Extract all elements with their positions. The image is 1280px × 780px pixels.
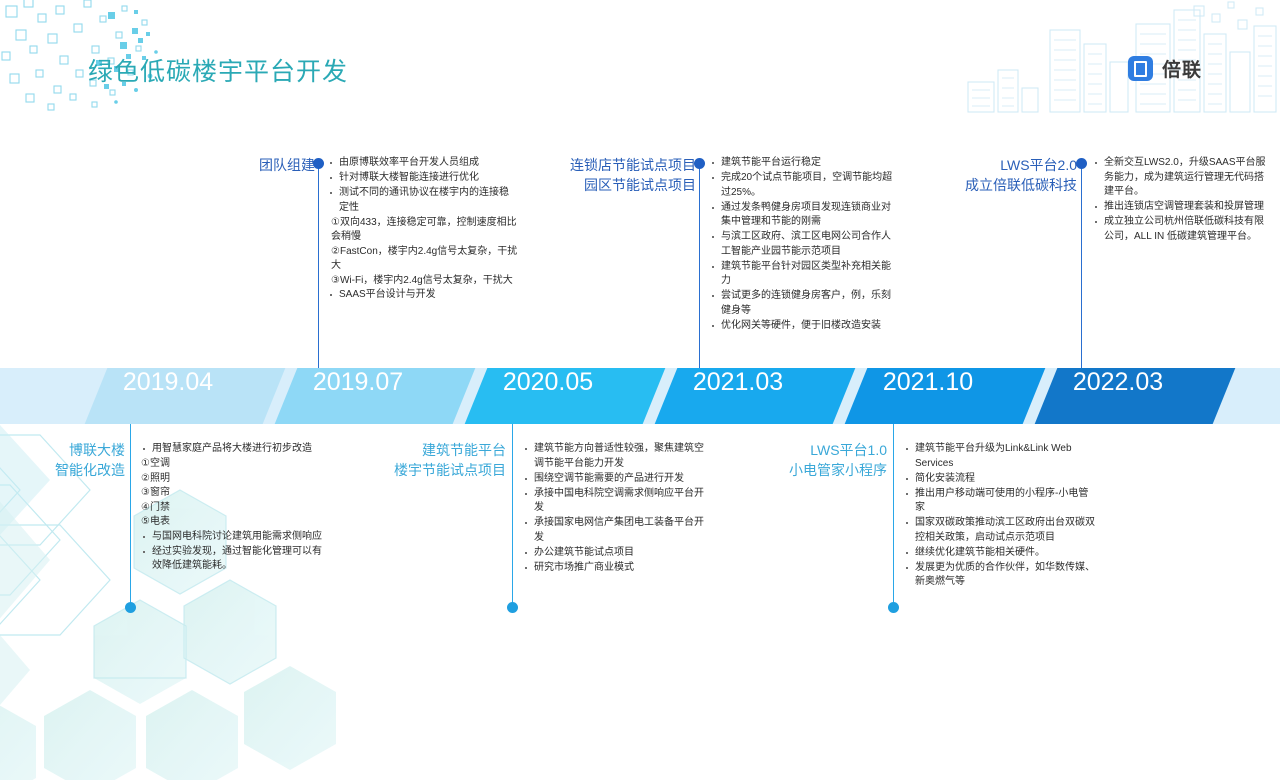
list-item: ①空调 (141, 457, 326, 472)
connector-dot-bottom-1 (507, 602, 518, 613)
entry-heading-line-1: LWS平台1.0 (752, 440, 887, 460)
timeline-entry-bottom-2: LWS平台1.0 小电管家小程序 (752, 440, 887, 480)
connector-dot-bottom-0 (125, 602, 136, 613)
slide-header: 绿色低碳楼宇平台开发 倍联 (0, 0, 1280, 130)
timeline-entry-top-0: 团队组建 (170, 155, 315, 175)
entry-heading-line-2: 小电管家小程序 (752, 460, 887, 480)
timeline-entry-top-2-body: 全新交互LWS2.0，升级SAAS平台服务能力，成为建筑运行管理无代码搭建平台。… (1093, 156, 1273, 245)
timeline-entry-bottom-0: 博联大楼 智能化改造 (0, 440, 125, 480)
list-item: 建筑节能平台针对园区类型补充相关能力 (710, 260, 900, 289)
list-item: 针对博联大楼智能连接进行优化 (328, 171, 518, 186)
sub-item: ①双向433，连接稳定可靠，控制速度相比会稍慢 (314, 216, 518, 245)
list-item: 推出连锁店空调管理套装和投屏管理 (1093, 200, 1273, 215)
list-item: 用智慧家庭产品将大楼进行初步改造 (141, 442, 326, 457)
list-item: 成立独立公司杭州倍联低碳科技有限公司，ALL IN 低碳建筑管理平台。 (1093, 215, 1273, 244)
list-item: 建筑节能方向普适性较强，聚焦建筑空调节能平台能力开发 (523, 442, 711, 471)
timeline-date-5: 2022.03 (1053, 368, 1183, 424)
list-item: 完成20个试点节能项目，空调节能均超过25%。 (710, 171, 900, 200)
sub-item: ③Wi-Fi，楼宇内2.4g信号太复杂，干扰大 (314, 274, 518, 289)
timeline-entry-bottom-1-body: 建筑节能方向普适性较强，聚焦建筑空调节能平台能力开发 围绕空调节能需要的产品进行… (523, 442, 711, 576)
list-item: 简化安装流程 (904, 472, 1096, 487)
entry-heading-line-2: 成立倍联低碳科技 (905, 175, 1077, 195)
list-item: 国家双碳政策推动滨工区政府出台双碳双控相关政策，启动试点示范项目 (904, 516, 1096, 545)
list-item: 建筑节能平台升级为Link&Link Web Services (904, 442, 1096, 471)
entry-heading-line-2: 园区节能试点项目 (528, 175, 696, 195)
list-item: SAAS平台设计与开发 (328, 288, 518, 303)
sub-item: ②FastCon，楼宇内2.4g信号太复杂，干扰大 (314, 245, 518, 274)
list-item: 承接国家电网信产集团电工装备平台开发 (523, 516, 711, 545)
timeline-date-2: 2020.05 (483, 368, 613, 424)
list-item: 围绕空调节能需要的产品进行开发 (523, 472, 711, 487)
list-item: 推出用户移动端可使用的小程序-小电管家 (904, 487, 1096, 516)
list-item: ③窗帘 (141, 486, 326, 501)
list-item: ④门禁 (141, 501, 326, 516)
connector-stem-top-2 (1081, 163, 1082, 368)
page-title: 绿色低碳楼宇平台开发 (88, 52, 348, 88)
connector-dot-top-2 (1076, 158, 1087, 169)
connector-stem-top-1 (699, 163, 700, 368)
timeline-date-4: 2021.10 (863, 368, 993, 424)
list-item: 办公建筑节能试点项目 (523, 546, 711, 561)
connector-dot-bottom-2 (888, 602, 899, 613)
timeline-date-3: 2021.03 (673, 368, 803, 424)
timeline-entry-top-1: 连锁店节能试点项目 园区节能试点项目 (528, 155, 696, 195)
entry-heading-line-2: 楼宇节能试点项目 (370, 460, 506, 480)
list-item: ②照明 (141, 472, 326, 487)
square-logo-icon (1128, 56, 1153, 81)
list-item: 由原博联效率平台开发人员组成 (328, 156, 518, 171)
timeline-entry-top-1-body: 建筑节能平台运行稳定 完成20个试点节能项目，空调节能均超过25%。 通过发条鸭… (710, 156, 900, 334)
list-item: 与国网电科院讨论建筑用能需求侧响应 (141, 530, 326, 545)
list-item: 继续优化建筑节能相关硬件。 (904, 546, 1096, 561)
list-item: 优化网关等硬件，便于旧楼改造安装 (710, 319, 900, 334)
timeline-entry-bottom-2-body: 建筑节能平台升级为Link&Link Web Services 简化安装流程 推… (904, 442, 1096, 590)
connector-stem-bottom-2 (893, 424, 894, 607)
entry-heading-line-1: 建筑节能平台 (370, 440, 506, 460)
list-item: 研究市场推广商业模式 (523, 561, 711, 576)
timeline-entry-top-2: LWS平台2.0 成立倍联低碳科技 (905, 155, 1077, 195)
list-item: 通过发条鸭健身房项目发现连锁商业对集中管理和节能的刚需 (710, 201, 900, 230)
brand-name: 倍联 (1162, 55, 1202, 82)
connector-stem-bottom-0 (130, 424, 131, 607)
entry-heading: 团队组建 (170, 155, 315, 175)
entry-heading-line-1: LWS平台2.0 (905, 155, 1077, 175)
list-item: 承接中国电科院空调需求侧响应平台开发 (523, 487, 711, 516)
list-item: 尝试更多的连锁健身房客户，例，乐刻健身等 (710, 289, 900, 318)
numbered-list: ①空调 ②照明 ③窗帘 ④门禁 ⑤电表 (141, 457, 326, 530)
timeline-entry-bottom-1: 建筑节能平台 楼宇节能试点项目 (370, 440, 506, 480)
timeline-entry-top-0-body: 由原博联效率平台开发人员组成 针对博联大楼智能连接进行优化 测试不同的通讯协议在… (328, 156, 518, 303)
list-item: 经过实验发现，通过智能化管理可以有效降低建筑能耗。 (141, 545, 326, 574)
timeline-date-1: 2019.07 (293, 368, 423, 424)
brand-logo: 倍联 (1128, 55, 1202, 82)
connector-stem-bottom-1 (512, 424, 513, 607)
list-item: 发展更为优质的合作伙伴，如华数传媒、新奥燃气等 (904, 561, 1096, 590)
list-item: 建筑节能平台运行稳定 (710, 156, 900, 171)
list-item: 测试不同的通讯协议在楼宇内的连接稳定性 (328, 186, 518, 215)
list-item: ⑤电表 (141, 515, 326, 530)
timeline-date-0: 2019.04 (103, 368, 233, 424)
list-item: 与滨工区政府、滨工区电网公司合作人工智能产业园节能示范项目 (710, 230, 900, 259)
entry-heading-line-2: 智能化改造 (0, 460, 125, 480)
timeline-entry-bottom-0-body: 用智慧家庭产品将大楼进行初步改造 ①空调 ②照明 ③窗帘 ④门禁 ⑤电表 与国网… (141, 442, 326, 574)
entry-heading-line-1: 连锁店节能试点项目 (528, 155, 696, 175)
entry-heading-line-1: 博联大楼 (0, 440, 125, 460)
list-item: 全新交互LWS2.0，升级SAAS平台服务能力，成为建筑运行管理无代码搭建平台。 (1093, 156, 1273, 200)
